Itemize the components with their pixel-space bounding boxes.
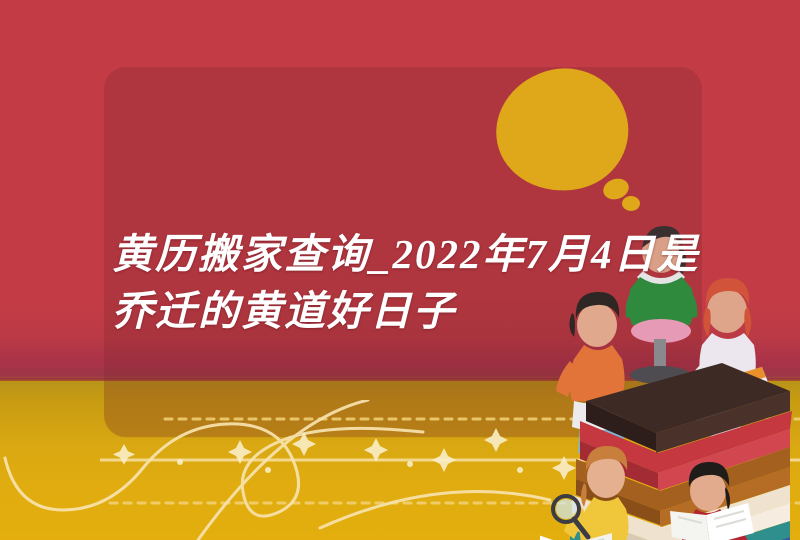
page-title-line-1: 黄历搬家查询_2022年 (112, 231, 526, 277)
banner-image: 黄历搬家查询_2022年7月4日是乔迁的黄道好日子 (0, 0, 800, 540)
thought-bubble-dot-small (622, 196, 640, 211)
page-title: 黄历搬家查询_2022年7月4日是乔迁的黄道好日子 (112, 226, 712, 340)
swirl-ribbon-group (5, 400, 550, 540)
